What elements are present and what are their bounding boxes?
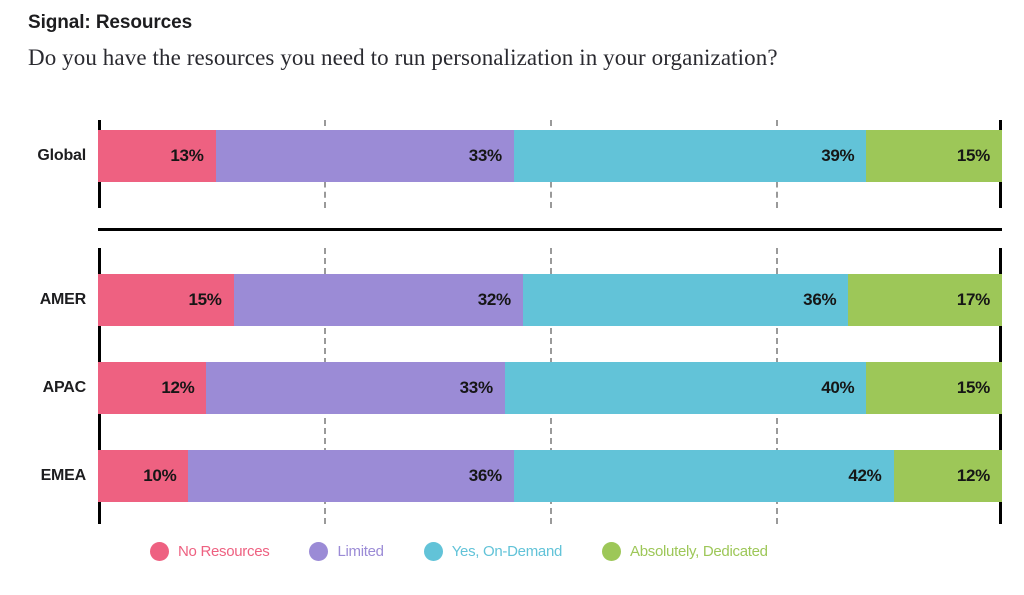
row-label-global: Global xyxy=(0,130,86,182)
section-separator-rule xyxy=(98,228,1002,231)
bar-segment-absolutely-dedicated[interactable]: 15% xyxy=(866,130,1002,182)
bar-segment-value: 36% xyxy=(469,466,502,486)
bar-segment-no-resources[interactable]: 15% xyxy=(98,274,234,326)
bar-segment-value: 40% xyxy=(821,378,854,398)
bar-segment-value: 42% xyxy=(848,466,881,486)
bar-segment-yes-on-demand[interactable]: 39% xyxy=(514,130,867,182)
table-row: 10%36%42%12% xyxy=(98,450,1002,502)
legend-item-label: Yes, On-Demand xyxy=(452,543,562,560)
table-row: 12%33%40%15% xyxy=(98,362,1002,414)
row-label-emea: EMEA xyxy=(0,450,86,502)
bar-segment-limited[interactable]: 33% xyxy=(216,130,514,182)
legend-item-label: Absolutely, Dedicated xyxy=(630,543,768,560)
bar-segment-value: 15% xyxy=(957,146,990,166)
bar-segment-yes-on-demand[interactable]: 36% xyxy=(523,274,848,326)
bar-segment-value: 15% xyxy=(188,290,221,310)
bar-segment-limited[interactable]: 36% xyxy=(188,450,513,502)
bar-segment-limited[interactable]: 32% xyxy=(234,274,523,326)
bar-segment-value: 13% xyxy=(170,146,203,166)
stacked-bar-chart: Global13%33%39%15%AMER15%32%36%17%APAC12… xyxy=(0,0,1024,595)
bar-segment-limited[interactable]: 33% xyxy=(206,362,504,414)
legend-swatch-icon xyxy=(150,542,169,561)
legend-item-label: Limited xyxy=(337,543,383,560)
bar-segment-yes-on-demand[interactable]: 40% xyxy=(505,362,867,414)
legend-item-absolutely-dedicated[interactable]: Absolutely, Dedicated xyxy=(602,542,768,561)
legend-swatch-icon xyxy=(424,542,443,561)
legend-item-yes-on-demand[interactable]: Yes, On-Demand xyxy=(424,542,562,561)
bar-segment-value: 39% xyxy=(821,146,854,166)
bar-segment-value: 36% xyxy=(803,290,836,310)
bar-segment-value: 10% xyxy=(143,466,176,486)
table-row: 15%32%36%17% xyxy=(98,274,1002,326)
chart-legend: No ResourcesLimitedYes, On-DemandAbsolut… xyxy=(150,542,768,561)
legend-swatch-icon xyxy=(602,542,621,561)
bar-segment-value: 15% xyxy=(957,378,990,398)
bar-segment-yes-on-demand[interactable]: 42% xyxy=(514,450,894,502)
legend-item-label: No Resources xyxy=(178,543,269,560)
bar-segment-value: 12% xyxy=(957,466,990,486)
bar-segment-value: 33% xyxy=(469,146,502,166)
bar-segment-no-resources[interactable]: 10% xyxy=(98,450,188,502)
legend-swatch-icon xyxy=(309,542,328,561)
bar-segment-value: 33% xyxy=(460,378,493,398)
bar-segment-no-resources[interactable]: 13% xyxy=(98,130,216,182)
bar-segment-absolutely-dedicated[interactable]: 17% xyxy=(848,274,1002,326)
bar-segment-absolutely-dedicated[interactable]: 12% xyxy=(894,450,1002,502)
bar-segment-value: 12% xyxy=(161,378,194,398)
bar-segment-value: 32% xyxy=(478,290,511,310)
bar-segment-value: 17% xyxy=(957,290,990,310)
bar-segment-absolutely-dedicated[interactable]: 15% xyxy=(866,362,1002,414)
bar-segment-no-resources[interactable]: 12% xyxy=(98,362,206,414)
legend-item-limited[interactable]: Limited xyxy=(309,542,383,561)
table-row: 13%33%39%15% xyxy=(98,130,1002,182)
row-label-amer: AMER xyxy=(0,274,86,326)
legend-item-no-resources[interactable]: No Resources xyxy=(150,542,269,561)
row-label-apac: APAC xyxy=(0,362,86,414)
